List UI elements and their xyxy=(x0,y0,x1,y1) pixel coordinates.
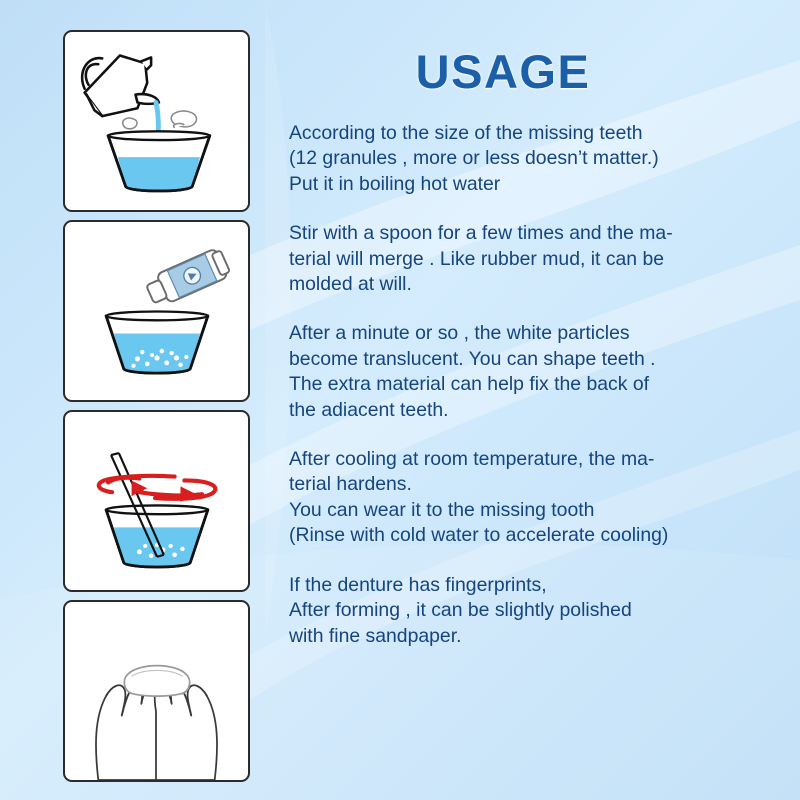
step-paragraph-5: If the denture has fingerprints, After f… xyxy=(289,573,775,649)
step-paragraph-3: After a minute or so , the white particl… xyxy=(289,321,775,423)
panel-kettle-pour xyxy=(63,30,250,212)
bowl-icon xyxy=(106,311,208,373)
denture-piece-icon xyxy=(124,666,189,697)
usage-instruction-graphic: USAGE According to the size of the missi… xyxy=(0,0,800,800)
granule-bottle-icon xyxy=(144,247,232,309)
hands-icon xyxy=(96,685,217,780)
step-paragraph-4: After cooling at room temperature, the m… xyxy=(289,447,775,549)
rotation-arrow-icon xyxy=(99,476,216,499)
step-paragraph-2: Stir with a spoon for a few times and th… xyxy=(289,221,775,297)
illustration-panel-column xyxy=(63,30,250,790)
kettle-icon xyxy=(82,55,159,116)
usage-text-column: USAGE According to the size of the missi… xyxy=(289,48,775,649)
bowl-icon xyxy=(108,131,210,191)
page-title: USAGE xyxy=(289,48,775,95)
step-paragraph-1: According to the size of the missing tee… xyxy=(289,121,775,197)
panel-bottle-granules xyxy=(63,220,250,402)
bowl-icon xyxy=(106,505,208,567)
panel-stir xyxy=(63,410,250,592)
panel-hands-mold xyxy=(63,600,250,782)
